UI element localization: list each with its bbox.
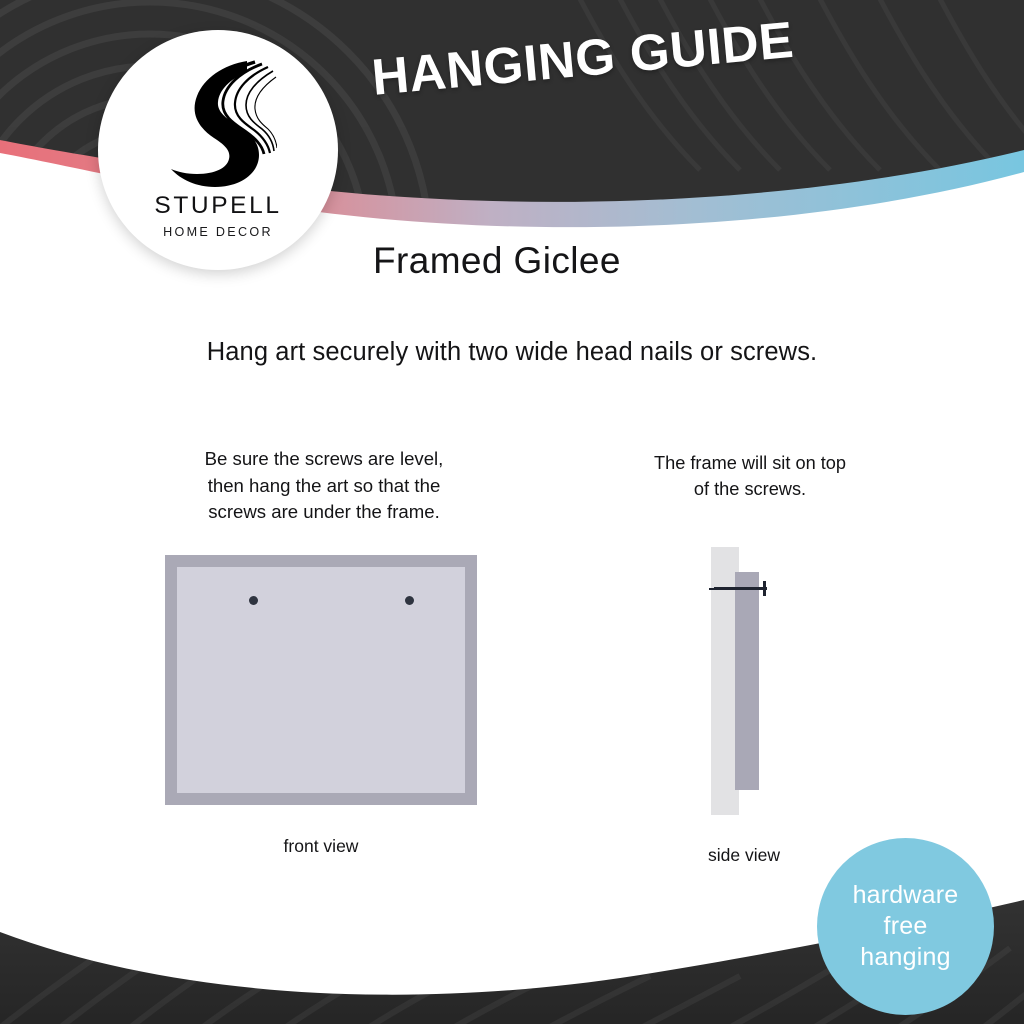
front-view-label: front view — [165, 836, 477, 857]
badge-line-2: free — [884, 911, 928, 942]
screw-head-icon — [763, 581, 766, 596]
front-caption-line-1: Be sure the screws are level, — [150, 446, 498, 473]
logo-wordmark: STUPELL — [154, 194, 281, 219]
front-view-art-panel — [177, 567, 465, 793]
badge-line-3: hanging — [860, 942, 950, 973]
side-caption-line-1: The frame will sit on top — [588, 450, 912, 476]
front-caption-line-2: then hang the art so that the — [150, 473, 498, 500]
front-view-caption: Be sure the screws are level, then hang … — [150, 446, 498, 526]
hanging-guide-page: STUPELL HOME DECOR HANGING GUIDE Framed … — [0, 0, 1024, 1024]
product-type-title: Framed Giclee — [373, 240, 621, 282]
side-view-label: side view — [660, 845, 828, 866]
front-caption-line-3: screws are under the frame. — [150, 499, 498, 526]
brand-logo-badge: STUPELL HOME DECOR — [98, 30, 338, 270]
screw-dot-left-icon — [249, 596, 258, 605]
front-view-frame-diagram — [165, 555, 477, 805]
stupell-swoosh-icon — [159, 58, 277, 190]
main-instruction-text: Hang art securely with two wide head nai… — [0, 338, 1024, 367]
badge-line-1: hardware — [853, 880, 959, 911]
side-caption-line-2: of the screws. — [588, 476, 912, 502]
side-view-caption: The frame will sit on top of the screws. — [588, 450, 912, 502]
logo-tagline: HOME DECOR — [163, 226, 273, 239]
screw-dot-right-icon — [405, 596, 414, 605]
side-view-frame-diagram — [690, 540, 800, 825]
hardware-free-hanging-badge: hardware free hanging — [817, 838, 994, 1015]
side-view-frame — [735, 572, 759, 790]
screw-shaft-icon — [714, 587, 767, 590]
